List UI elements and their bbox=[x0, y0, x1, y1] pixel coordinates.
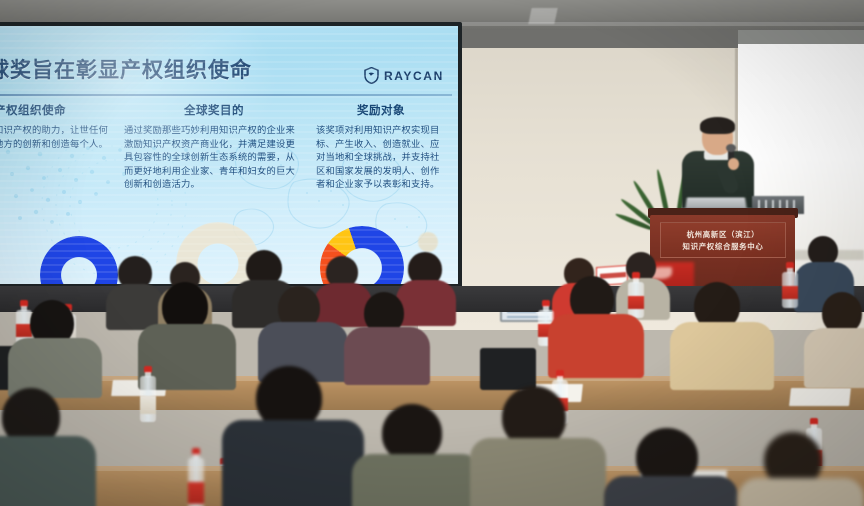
slide-column-purpose: 全球奖目的 通过奖励那些巧妙利用知识产权的企业来激励知识产权资产商业化，并满足建… bbox=[118, 102, 310, 212]
column-body: 知识产权的助力，让世任何地方的创新和创造每个人。 bbox=[0, 124, 112, 151]
water-bottle bbox=[782, 262, 798, 308]
microphone-head-icon bbox=[726, 144, 736, 152]
water-bottle bbox=[628, 272, 644, 318]
slide-column-recipients: 奖励对象 该奖项对利用知识产权实现目标、产生收入、创造就业、应对当地和全球挑战，… bbox=[310, 102, 452, 212]
handout-paper bbox=[789, 388, 851, 406]
column-heading: 产权组织使命 bbox=[0, 102, 112, 118]
water-bottle bbox=[140, 366, 160, 424]
column-heading: 全球奖目的 bbox=[124, 102, 304, 118]
venue-sign: 杭州高新区（滨江） 知识产权综合服务中心 bbox=[660, 222, 786, 258]
shield-logo-icon bbox=[364, 67, 379, 84]
brand-logo: RAYCAN bbox=[364, 67, 444, 84]
projection-screen: 球奖旨在彰显产权组织使命 RAYCAN 产权组织使命 知识产权的助力，让世任何地… bbox=[0, 26, 458, 284]
decorative-dot bbox=[418, 232, 438, 252]
title-divider bbox=[0, 94, 452, 96]
water-bottle bbox=[188, 448, 214, 506]
slide-columns: 产权组织使命 知识产权的助力，让世任何地方的创新和创造每个人。 全球奖目的 通过… bbox=[0, 102, 452, 212]
column-heading: 奖励对象 bbox=[316, 102, 446, 118]
venue-sign-line-1: 杭州高新区（滨江） bbox=[687, 229, 760, 240]
column-body: 该奖项对利用知识产权实现目标、产生收入、创造就业、应对当地和全球挑战，并支持社区… bbox=[316, 124, 446, 192]
venue-sign-line-2: 知识产权综合服务中心 bbox=[683, 241, 764, 252]
slide-column-mission: 产权组织使命 知识产权的助力，让世任何地方的创新和创造每个人。 bbox=[0, 102, 118, 212]
chair-back bbox=[480, 348, 536, 390]
column-body: 通过奖励那些巧妙利用知识产权的企业来激励知识产权资产商业化，并满足建设更具包容性… bbox=[124, 124, 304, 192]
presenter-hand bbox=[728, 158, 739, 170]
ceiling-blemish bbox=[528, 8, 557, 24]
photo-scene: 球奖旨在彰显产权组织使命 RAYCAN 产权组织使命 知识产权的助力，让世任何地… bbox=[0, 0, 864, 506]
glasses-icon bbox=[704, 131, 731, 137]
slide-title: 球奖旨在彰显产权组织使命 bbox=[0, 54, 348, 84]
brand-name: RAYCAN bbox=[384, 69, 444, 83]
window-header bbox=[738, 30, 864, 44]
ceiling-seam bbox=[430, 22, 864, 26]
